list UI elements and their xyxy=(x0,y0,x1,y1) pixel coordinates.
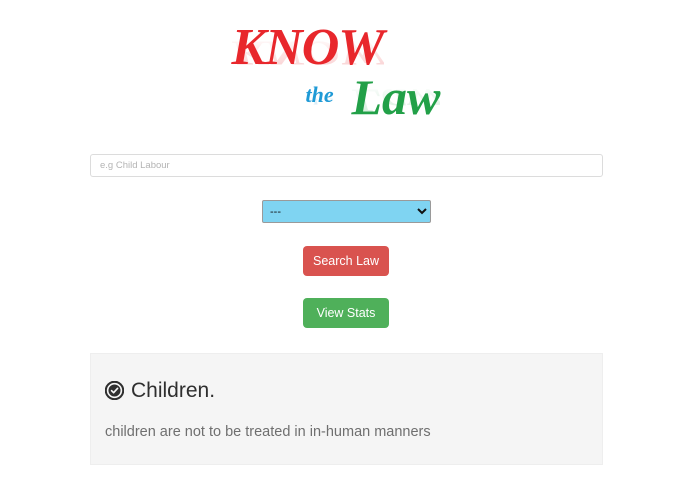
site-logo: KNOW Law the KNOW the Law xyxy=(0,0,695,126)
search-law-button[interactable]: Search Law xyxy=(303,246,389,276)
result-panel: Children. children are not to be treated… xyxy=(90,353,603,465)
check-circle-icon xyxy=(105,381,124,400)
result-description: children are not to be treated in in-hum… xyxy=(105,424,602,441)
view-stats-button[interactable]: View Stats xyxy=(303,298,389,328)
logo-word-law: Law xyxy=(352,72,441,122)
logo-graphic: KNOW Law the KNOW the Law xyxy=(228,14,468,126)
logo-word-the: the xyxy=(306,84,334,106)
logo-word-know: KNOW xyxy=(232,22,384,74)
search-row xyxy=(90,154,603,177)
search-input[interactable] xyxy=(90,154,603,177)
law-category-select[interactable]: --- xyxy=(262,200,431,223)
category-select-row: --- xyxy=(262,200,431,223)
result-title: Children. xyxy=(131,380,215,401)
result-heading: Children. xyxy=(105,380,602,401)
